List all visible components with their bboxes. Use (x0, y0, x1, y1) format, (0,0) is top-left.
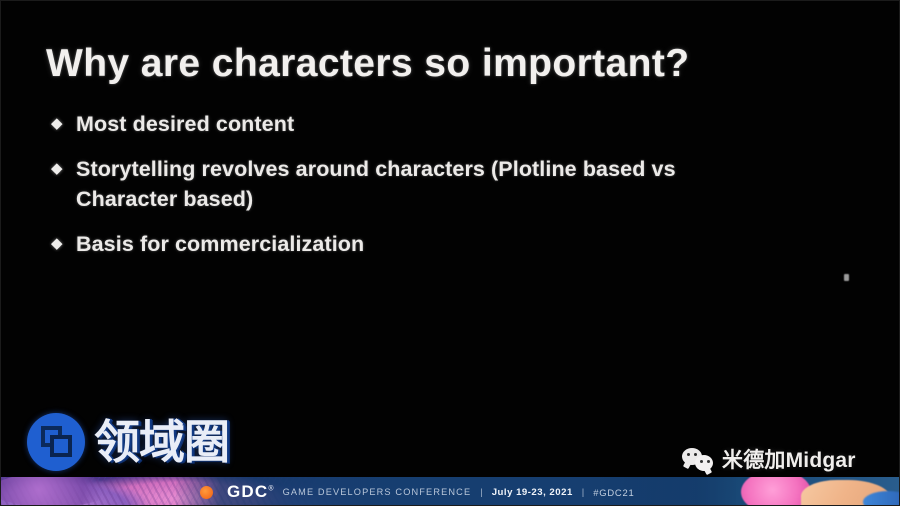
registered-mark: ® (268, 485, 273, 492)
gdc-logo: GDC® (227, 483, 274, 500)
separator: | (480, 487, 482, 498)
gdc-dot-icon (200, 486, 213, 499)
wechat-bubble-small (695, 455, 713, 471)
cursor-artifact (844, 274, 849, 281)
gdc-hashtag: #GDC21 (593, 487, 634, 498)
slide-bullet-list: ◆ Most desired content ◆ Storytelling re… (46, 109, 846, 274)
bullet-text-line2: Character based) (76, 184, 846, 214)
nested-squares-logo-icon (27, 413, 85, 471)
list-item: ◆ Basis for commercialization (46, 229, 846, 259)
gdc-logo-text: GDC (227, 482, 268, 501)
list-item: ◆ Most desired content (46, 109, 846, 139)
slide-footer-artwork: GDC® GAME DEVELOPERS CONFERENCE | July 1… (1, 477, 900, 506)
gdc-footer-banner: GDC® GAME DEVELOPERS CONFERENCE | July 1… (176, 477, 736, 506)
diamond-bullet-icon: ◆ (46, 154, 76, 184)
logo-square-front (50, 435, 72, 457)
gdc-subtitle: GAME DEVELOPERS CONFERENCE (283, 487, 472, 497)
bullet-text: Basis for commercialization (76, 229, 846, 259)
watermark-left-label: 领域圈 (94, 419, 229, 465)
gdc-date: July 19-23, 2021 (492, 487, 573, 498)
separator: | (582, 487, 584, 498)
artwork-blob-magenta (1, 477, 111, 506)
bullet-text: Most desired content (76, 109, 846, 139)
diamond-bullet-icon: ◆ (46, 229, 76, 259)
presentation-slide: Why are characters so important? ◆ Most … (1, 1, 900, 477)
slide-title: Why are characters so important? (46, 42, 689, 86)
watermark-midgar: 米德加Midgar (682, 447, 856, 473)
list-item: ◆ Storytelling revolves around character… (46, 154, 846, 214)
video-frame: Why are characters so important? ◆ Most … (0, 0, 900, 506)
watermark-right-label: 米德加Midgar (722, 450, 856, 471)
diamond-bullet-icon: ◆ (46, 109, 76, 139)
watermark-lingyuquan: 领域圈 (27, 413, 229, 471)
wechat-icon (682, 447, 714, 473)
bullet-text: Storytelling revolves around characters … (76, 154, 846, 214)
bullet-text-line1: Storytelling revolves around characters … (76, 157, 676, 181)
